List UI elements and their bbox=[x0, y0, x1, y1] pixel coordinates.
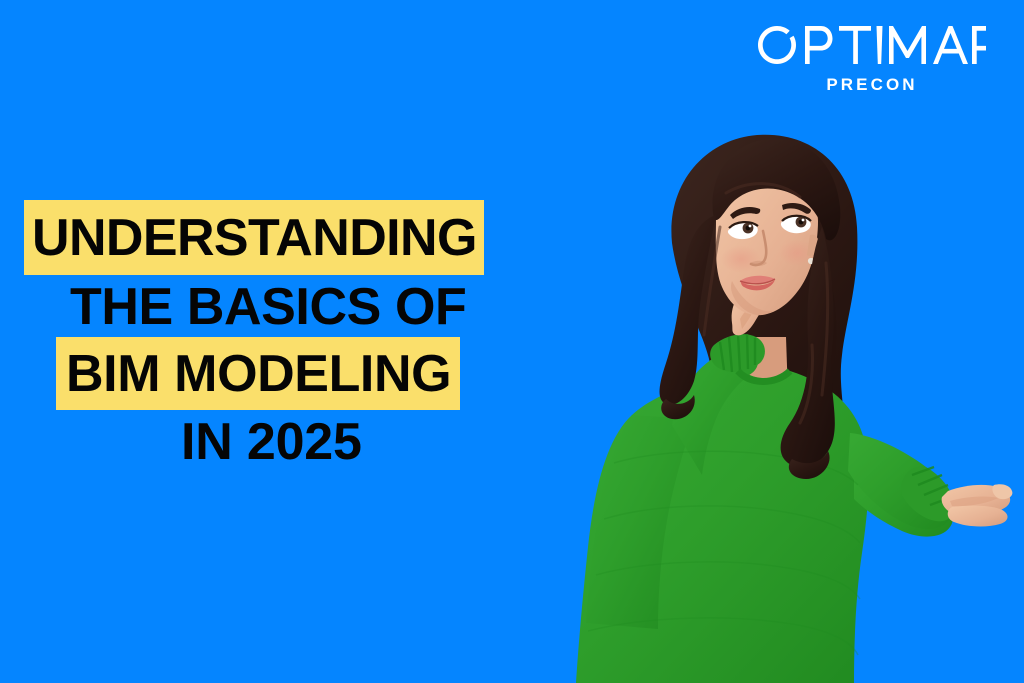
headline-line-3: BIM MODELING bbox=[0, 337, 585, 410]
brand-logo: PRECON bbox=[756, 24, 988, 93]
person-photo bbox=[554, 123, 1024, 683]
headline-line-3-text: BIM MODELING bbox=[56, 337, 460, 410]
green-sweater bbox=[576, 334, 954, 683]
article-banner: PRECON UNDERSTANDING THE BASICS OF BIM M… bbox=[0, 0, 1024, 683]
logo-wordmark bbox=[756, 24, 988, 66]
headline-line-4-text: IN 2025 bbox=[178, 416, 365, 468]
headline: UNDERSTANDING THE BASICS OF BIM MODELING… bbox=[0, 200, 585, 468]
open-palm-hand bbox=[942, 484, 1013, 526]
headline-line-1-text: UNDERSTANDING bbox=[24, 200, 484, 275]
headline-line-2: THE BASICS OF bbox=[0, 281, 585, 333]
headline-line-4: IN 2025 bbox=[0, 416, 585, 468]
headline-line-2-text: THE BASICS OF bbox=[66, 281, 470, 333]
headline-line-1: UNDERSTANDING bbox=[0, 200, 585, 275]
logo-subtitle: PRECON bbox=[756, 76, 988, 93]
